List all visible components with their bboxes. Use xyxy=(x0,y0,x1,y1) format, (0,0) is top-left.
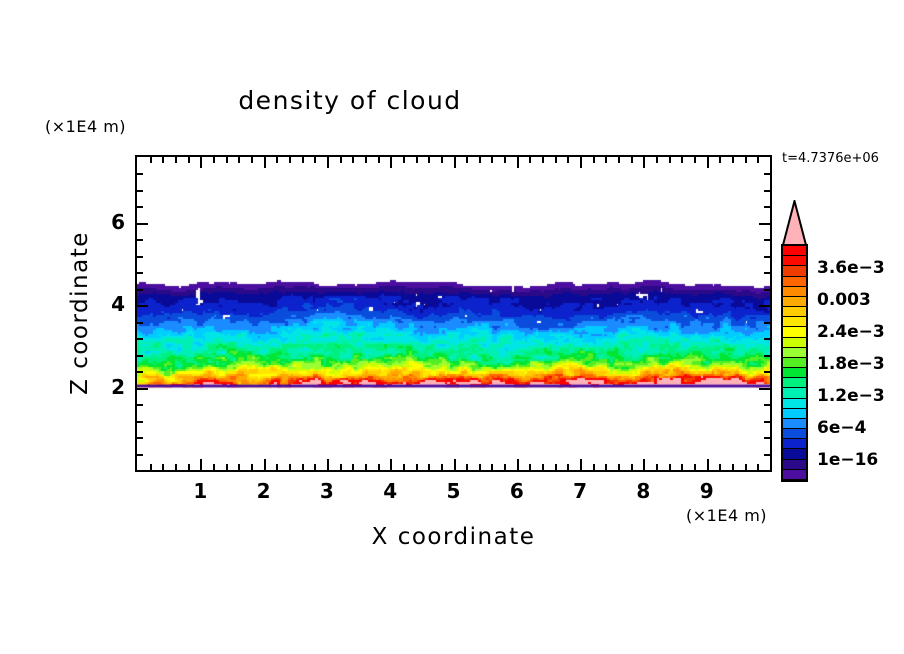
x-major-tick xyxy=(643,459,645,470)
colorbar-band xyxy=(783,409,806,419)
y-minor-tick xyxy=(137,404,143,406)
x-major-tick xyxy=(264,459,266,470)
y-minor-tick-right xyxy=(764,355,770,357)
x-minor-tick-top xyxy=(162,157,164,163)
y-minor-tick xyxy=(137,371,143,373)
y-minor-tick xyxy=(137,437,143,439)
colorbar-band xyxy=(783,470,806,480)
y-minor-tick-right xyxy=(764,437,770,439)
y-minor-tick-right xyxy=(764,322,770,324)
x-minor-tick-top xyxy=(542,157,544,163)
x-minor-tick xyxy=(226,464,228,470)
y-major-tick xyxy=(137,388,148,390)
x-minor-tick-top xyxy=(656,157,658,163)
x-tick-label: 2 xyxy=(244,479,284,503)
x-major-tick-top xyxy=(517,157,519,168)
x-minor-tick xyxy=(416,464,418,470)
x-major-tick-top xyxy=(264,157,266,168)
y-minor-tick-right xyxy=(764,371,770,373)
x-minor-tick xyxy=(529,464,531,470)
colorbar-band xyxy=(783,338,806,348)
x-major-tick xyxy=(517,459,519,470)
x-minor-tick xyxy=(567,464,569,470)
x-minor-tick xyxy=(694,464,696,470)
x-minor-tick xyxy=(479,464,481,470)
x-major-tick-top xyxy=(200,157,202,168)
y-minor-tick xyxy=(137,454,143,456)
x-major-tick-top xyxy=(707,157,709,168)
x-minor-tick-top xyxy=(251,157,253,163)
x-minor-tick xyxy=(757,464,759,470)
x-axis-title: X coordinate xyxy=(135,524,772,550)
x-minor-tick-top xyxy=(340,157,342,163)
y-major-tick xyxy=(137,305,148,307)
colorbar-band xyxy=(783,317,806,327)
x-major-tick-top xyxy=(454,157,456,168)
x-minor-tick-top xyxy=(428,157,430,163)
page-title: density of cloud xyxy=(0,86,700,115)
colorbar-label: 0.003 xyxy=(817,290,871,310)
y-minor-tick-right xyxy=(764,421,770,423)
x-minor-tick-top xyxy=(416,157,418,163)
x-minor-tick-top xyxy=(555,157,557,163)
y-major-tick-right xyxy=(759,223,770,225)
x-major-tick-top xyxy=(327,157,329,168)
x-minor-tick-top xyxy=(302,157,304,163)
plot-area xyxy=(135,155,772,472)
colorbar-band xyxy=(783,327,806,337)
colorbar-band xyxy=(783,388,806,398)
x-major-tick-top xyxy=(390,157,392,168)
colorbar-label: 2.4e−3 xyxy=(817,322,885,342)
x-minor-tick xyxy=(314,464,316,470)
x-minor-tick-top xyxy=(732,157,734,163)
x-minor-tick xyxy=(162,464,164,470)
y-minor-tick xyxy=(137,239,143,241)
x-minor-tick xyxy=(631,464,633,470)
x-minor-tick xyxy=(605,464,607,470)
y-major-tick xyxy=(137,223,148,225)
y-minor-tick-right xyxy=(764,256,770,258)
x-major-tick xyxy=(390,459,392,470)
x-minor-tick-top xyxy=(669,157,671,163)
x-minor-tick xyxy=(302,464,304,470)
y-axis-unit-label: (×1E4 m) xyxy=(45,117,126,136)
x-minor-tick-top xyxy=(719,157,721,163)
x-minor-tick-top xyxy=(238,157,240,163)
y-minor-tick xyxy=(137,289,143,291)
x-minor-tick xyxy=(175,464,177,470)
x-tick-label: 8 xyxy=(623,479,663,503)
colorbar-band xyxy=(783,246,806,256)
x-major-tick xyxy=(454,459,456,470)
y-axis-title: Z coordinate xyxy=(67,213,93,413)
y-minor-tick xyxy=(137,256,143,258)
x-minor-tick xyxy=(491,464,493,470)
x-minor-tick xyxy=(656,464,658,470)
x-minor-tick-top xyxy=(681,157,683,163)
x-minor-tick-top xyxy=(188,157,190,163)
x-minor-tick-top xyxy=(618,157,620,163)
x-minor-tick-top xyxy=(175,157,177,163)
y-minor-tick xyxy=(137,190,143,192)
x-minor-tick-top xyxy=(567,157,569,163)
colorbar-band xyxy=(783,358,806,368)
x-tick-label: 3 xyxy=(307,479,347,503)
x-minor-tick-top xyxy=(276,157,278,163)
x-minor-tick-top xyxy=(441,157,443,163)
x-minor-tick-top xyxy=(352,157,354,163)
x-minor-tick xyxy=(238,464,240,470)
x-major-tick xyxy=(707,459,709,470)
x-tick-label: 5 xyxy=(434,479,474,503)
x-tick-label: 9 xyxy=(687,479,727,503)
x-minor-tick-top xyxy=(745,157,747,163)
colorbar-label: 1.8e−3 xyxy=(817,354,885,374)
colorbar-label: 1.2e−3 xyxy=(817,386,885,406)
x-minor-tick xyxy=(441,464,443,470)
contour-field-canvas xyxy=(137,157,770,470)
y-minor-tick-right xyxy=(764,289,770,291)
y-minor-tick xyxy=(137,338,143,340)
x-minor-tick-top xyxy=(403,157,405,163)
x-minor-tick-top xyxy=(757,157,759,163)
x-minor-tick xyxy=(150,464,152,470)
y-minor-tick-right xyxy=(764,173,770,175)
x-minor-tick xyxy=(213,464,215,470)
x-minor-tick-top xyxy=(491,157,493,163)
x-minor-tick-top xyxy=(631,157,633,163)
colorbar-band xyxy=(783,256,806,266)
x-minor-tick-top xyxy=(365,157,367,163)
y-minor-tick-right xyxy=(764,272,770,274)
x-minor-tick-top xyxy=(504,157,506,163)
colorbar-label: 1e−16 xyxy=(817,450,878,470)
x-minor-tick-top xyxy=(694,157,696,163)
colorbar-band xyxy=(783,399,806,409)
y-major-tick-right xyxy=(759,388,770,390)
y-minor-tick-right xyxy=(764,454,770,456)
y-minor-tick xyxy=(137,272,143,274)
y-minor-tick xyxy=(137,173,143,175)
x-minor-tick xyxy=(618,464,620,470)
x-minor-tick xyxy=(593,464,595,470)
x-major-tick xyxy=(580,459,582,470)
colorbar-band xyxy=(783,266,806,276)
x-minor-tick xyxy=(403,464,405,470)
x-minor-tick xyxy=(745,464,747,470)
x-minor-tick xyxy=(542,464,544,470)
colorbar-arrow-icon xyxy=(781,200,808,246)
x-minor-tick xyxy=(504,464,506,470)
x-axis-unit-label: (×1E4 m) xyxy=(686,506,767,525)
colorbar-band xyxy=(783,287,806,297)
x-minor-tick-top xyxy=(226,157,228,163)
x-minor-tick xyxy=(365,464,367,470)
x-minor-tick-top xyxy=(529,157,531,163)
x-minor-tick xyxy=(555,464,557,470)
x-minor-tick xyxy=(276,464,278,470)
x-minor-tick-top xyxy=(378,157,380,163)
x-minor-tick xyxy=(466,464,468,470)
x-major-tick-top xyxy=(643,157,645,168)
x-major-tick xyxy=(327,459,329,470)
y-minor-tick xyxy=(137,322,143,324)
colorbar-band xyxy=(783,277,806,287)
colorbar-band xyxy=(783,449,806,459)
y-minor-tick xyxy=(137,206,143,208)
x-tick-label: 1 xyxy=(180,479,220,503)
y-minor-tick xyxy=(137,355,143,357)
x-minor-tick xyxy=(732,464,734,470)
colorbar-label: 3.6e−3 xyxy=(817,258,885,278)
x-minor-tick-top xyxy=(314,157,316,163)
x-minor-tick xyxy=(188,464,190,470)
x-minor-tick xyxy=(428,464,430,470)
colorbar-band xyxy=(783,460,806,470)
x-minor-tick-top xyxy=(593,157,595,163)
contour-figure: density of cloud (×1E4 m) t=4.7376e+06 1… xyxy=(0,0,904,654)
x-minor-tick-top xyxy=(150,157,152,163)
y-minor-tick-right xyxy=(764,239,770,241)
y-minor-tick-right xyxy=(764,206,770,208)
y-minor-tick-right xyxy=(764,190,770,192)
x-tick-label: 7 xyxy=(560,479,600,503)
y-major-tick-right xyxy=(759,305,770,307)
x-minor-tick xyxy=(669,464,671,470)
x-minor-tick xyxy=(719,464,721,470)
colorbar-band xyxy=(783,307,806,317)
colorbar-label: 6e−4 xyxy=(817,418,866,438)
colorbar-band xyxy=(783,419,806,429)
x-minor-tick-top xyxy=(479,157,481,163)
x-minor-tick-top xyxy=(605,157,607,163)
x-major-tick-top xyxy=(580,157,582,168)
colorbar-band xyxy=(783,429,806,439)
x-minor-tick-top xyxy=(289,157,291,163)
colorbar-band xyxy=(783,297,806,307)
y-minor-tick-right xyxy=(764,338,770,340)
x-minor-tick xyxy=(378,464,380,470)
y-minor-tick xyxy=(137,421,143,423)
x-minor-tick xyxy=(251,464,253,470)
x-minor-tick xyxy=(681,464,683,470)
colorbar-band xyxy=(783,439,806,449)
x-tick-label: 6 xyxy=(497,479,537,503)
colorbar: 3.6e−30.0032.4e−31.8e−31.2e−36e−41e−16 xyxy=(781,200,901,485)
x-minor-tick-top xyxy=(466,157,468,163)
colorbar-band xyxy=(783,348,806,358)
colorbar-band xyxy=(783,368,806,378)
x-minor-tick-top xyxy=(213,157,215,163)
colorbar-band xyxy=(783,378,806,388)
timestamp-annotation: t=4.7376e+06 xyxy=(782,151,879,166)
x-minor-tick xyxy=(340,464,342,470)
x-tick-label: 4 xyxy=(370,479,410,503)
x-minor-tick xyxy=(289,464,291,470)
y-minor-tick-right xyxy=(764,404,770,406)
colorbar-bands xyxy=(781,244,808,482)
x-major-tick xyxy=(200,459,202,470)
x-minor-tick xyxy=(352,464,354,470)
